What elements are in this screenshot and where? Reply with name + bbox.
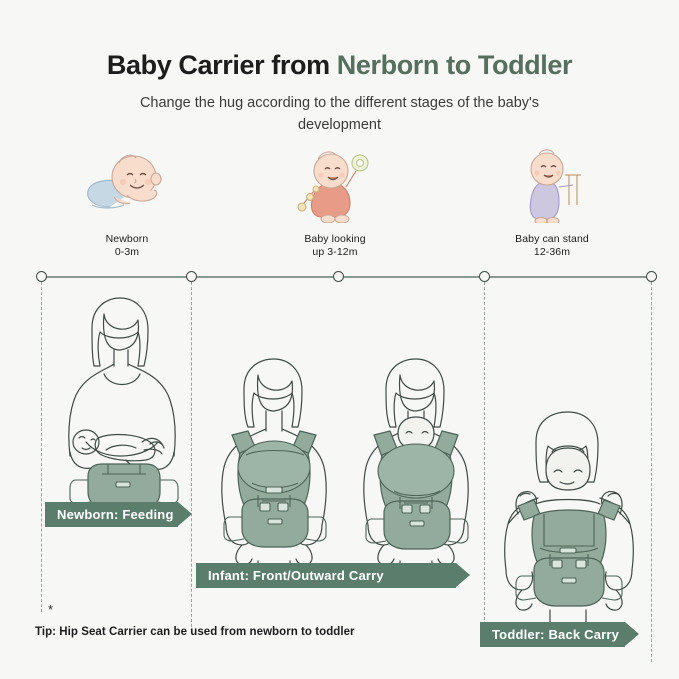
tip-text: Tip: Hip Seat Carrier can be used from n… <box>35 626 355 638</box>
banner-toddler-back-carry: Toddler: Back Carry <box>480 622 625 647</box>
development-stages-row: Newborn 0-3m <box>0 145 679 265</box>
stage-column-baby-can-stand: Baby can stand 12-36m <box>462 145 642 259</box>
banner-infant-front-outward-carry: Infant: Front/Outward Carry <box>196 563 456 588</box>
infant-outward-carry-illustration <box>340 355 500 575</box>
infant-front-carry-illustration <box>196 355 356 575</box>
stage-name: Baby looking <box>245 233 425 246</box>
column-divider-4 <box>651 282 652 662</box>
timeline-tick-2 <box>186 271 197 282</box>
banner-arrow-icon <box>625 622 639 646</box>
toddler-back-carry-illustration <box>492 404 647 629</box>
timeline-tick-5 <box>646 271 657 282</box>
timeline-tick-3 <box>333 271 344 282</box>
banner-label: Infant: Front/Outward Carry <box>208 568 384 583</box>
stage-column-baby-looking-up: Baby looking up 3-12m <box>245 145 425 259</box>
stage-age: 12-36m <box>462 246 642 259</box>
standing-baby-icon <box>462 145 642 223</box>
stage-age: up 3-12m <box>245 246 425 259</box>
stage-label-baby-can-stand: Baby can stand 12-36m <box>462 233 642 259</box>
stage-name: Newborn <box>37 233 217 246</box>
banner-newborn-feeding: Newborn: Feeding <box>45 502 178 527</box>
banner-label: Newborn: Feeding <box>57 507 174 522</box>
timeline-tick-1 <box>36 271 47 282</box>
newborn-feeding-illustration <box>46 292 191 522</box>
banner-arrow-icon <box>178 502 192 526</box>
title-accent-text: Nerborn to Toddler <box>337 50 572 80</box>
banner-label: Toddler: Back Carry <box>492 627 619 642</box>
newborn-tummy-baby-icon <box>37 145 217 223</box>
title-main-text: Baby Carrier from <box>107 50 337 80</box>
timeline-tick-4 <box>479 271 490 282</box>
page-subtitle: Change the hug according to the differen… <box>119 92 560 136</box>
column-divider-1 <box>41 282 42 612</box>
timeline-axis <box>41 276 657 278</box>
stage-column-newborn: Newborn 0-3m <box>37 145 217 259</box>
column-divider-2 <box>191 282 192 632</box>
stage-label-baby-looking-up: Baby looking up 3-12m <box>245 233 425 259</box>
stage-label-newborn: Newborn 0-3m <box>37 233 217 259</box>
stage-name: Baby can stand <box>462 233 642 246</box>
page-title: Baby Carrier from Nerborn to Toddler <box>0 50 679 81</box>
sitting-baby-with-rattle-icon <box>245 145 425 223</box>
banner-arrow-icon <box>456 563 470 587</box>
stage-age: 0-3m <box>37 246 217 259</box>
infographic-canvas: Baby Carrier from Nerborn to Toddler Cha… <box>0 0 679 679</box>
tip-asterisk: * <box>48 605 53 615</box>
